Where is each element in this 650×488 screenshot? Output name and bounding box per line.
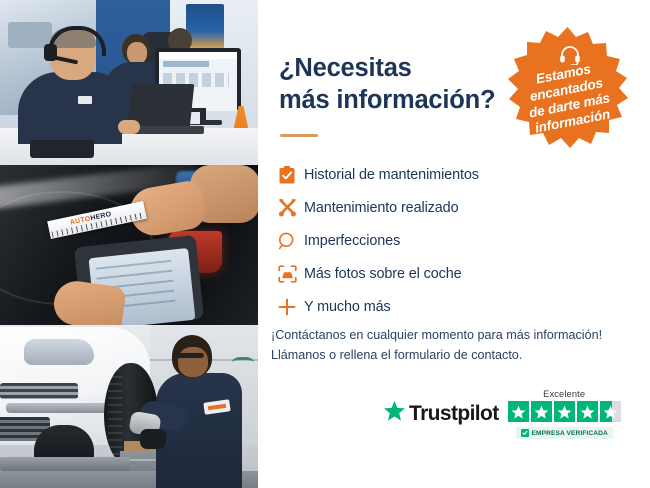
contact-paragraph-line-1: ¡Contáctanos en cualquier momento para m…	[271, 328, 602, 342]
promo-badge: Estamos encantados de darte más informac…	[501, 24, 634, 158]
feature-label: Mantenimiento realizado	[304, 200, 459, 216]
verified-check-icon	[521, 429, 529, 437]
trustpilot-logo: Trustpilot	[383, 400, 499, 427]
page-title: ¿Necesitasmás información?	[279, 52, 509, 116]
technician-face	[178, 347, 208, 377]
feature-label: Y mucho más	[304, 299, 391, 315]
desk-tablet	[30, 140, 94, 158]
feature-item-mucho-mas: Y mucho más	[270, 290, 610, 323]
information-banner: AUTOHERO	[0, 0, 650, 488]
headset-icon	[559, 45, 581, 65]
car-headlight	[24, 339, 94, 365]
agent-name-badge	[78, 96, 92, 104]
feature-item-mantenimiento: Mantenimiento realizado	[270, 191, 610, 224]
feature-item-imperfecciones: Imperfecciones	[270, 224, 610, 257]
title-divider	[280, 134, 318, 137]
car-grille	[0, 383, 78, 399]
car-scan-icon	[270, 265, 304, 283]
rating-star-3	[554, 401, 575, 422]
contact-paragraph-line-2: Llámanos o rellena el formulario de cont…	[271, 348, 522, 362]
call-center-agent-photo	[0, 0, 258, 165]
tyre-tread	[108, 369, 122, 461]
feature-label: Imperfecciones	[304, 233, 400, 249]
feature-label: Más fotos sobre el coche	[304, 266, 462, 282]
content-panel: ¿Necesitasmás información? Estamos encan…	[258, 0, 650, 488]
technician-body	[156, 373, 242, 488]
plus-icon	[270, 298, 304, 316]
trustpilot-star-icon	[383, 400, 406, 427]
clipboard-check-icon	[270, 166, 304, 184]
contact-paragraph: ¡Contáctanos en cualquier momento para m…	[271, 325, 631, 366]
photo-collage: AUTOHERO	[0, 0, 258, 488]
workshop-hose	[232, 357, 254, 370]
trustpilot-score: Excelente	[508, 388, 621, 439]
star-rating	[508, 401, 621, 422]
car-lift-arm	[0, 457, 130, 471]
safety-glasses	[176, 353, 204, 358]
technician-glove-dark	[140, 429, 166, 449]
car-inspection-ruler-photo: AUTOHERO	[0, 165, 258, 325]
rating-star-4	[577, 401, 598, 422]
rating-star-5-partial	[600, 401, 621, 422]
feature-list: Historial de mantenimientos Mantenimient…	[270, 158, 610, 323]
verified-business-label: EMPRESA VERIFICADA	[532, 430, 608, 437]
agent-hand	[118, 120, 140, 134]
trustpilot-wordmark: Trustpilot	[409, 402, 499, 426]
page-title-line-2: más información?	[279, 86, 495, 114]
feature-label: Historial de mantenimientos	[304, 167, 479, 183]
magnifier-icon	[270, 232, 304, 250]
verified-business-badge: EMPRESA VERIFICADA	[516, 427, 613, 439]
colleague-face	[127, 42, 147, 64]
rating-label: Excelente	[543, 388, 585, 399]
page-title-line-1: ¿Necesitas	[279, 54, 412, 82]
rating-star-1	[508, 401, 529, 422]
tools-cross-icon	[270, 198, 304, 217]
trustpilot-rating: Trustpilot Excelente	[383, 388, 621, 439]
feature-item-fotos: Más fotos sobre el coche	[270, 257, 610, 290]
feature-item-historial: Historial de mantenimientos	[270, 158, 610, 191]
rating-star-2	[531, 401, 552, 422]
technician-wheel-photo	[0, 325, 258, 488]
